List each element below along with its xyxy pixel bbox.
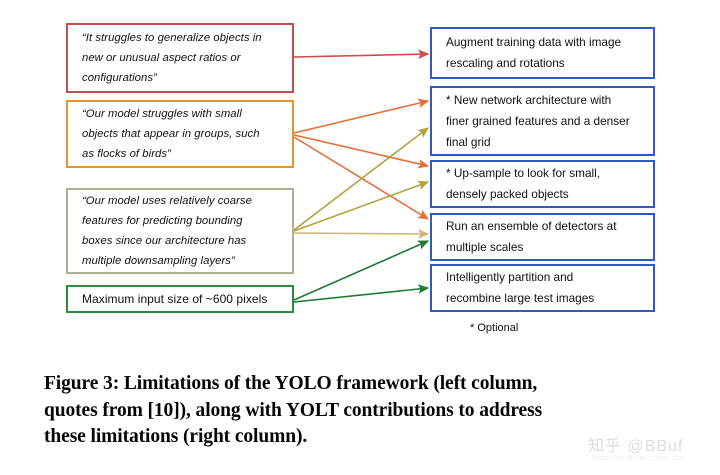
arrow-maxinput-to-partition: [294, 288, 428, 302]
arrow-coarse-to-upsample: [294, 182, 428, 231]
contribution-line: multiple scales: [446, 237, 645, 258]
watermark-url: https://zhuanlan.zhihu.com: [592, 455, 686, 462]
figure-diagram: “It struggles to generalize objects in n…: [0, 0, 720, 355]
contribution-line: densely packed objects: [446, 184, 645, 205]
contribution-line: * New network architecture with: [446, 90, 645, 111]
arrow-small-objects-to-architecture: [294, 101, 428, 133]
contribution-box-new-network-architecture: * New network architecture with finer gr…: [430, 86, 655, 156]
contribution-box-augment-training-data: Augment training data with image rescali…: [430, 27, 655, 79]
contribution-line: * Up-sample to look for small,: [446, 163, 645, 184]
quote-line: as flocks of birds”: [82, 144, 282, 164]
arrow-maxinput-to-ensemble: [294, 241, 428, 300]
arrow-coarse-to-ensemble: [294, 233, 428, 234]
arrow-small-objects-to-upsample: [294, 135, 428, 166]
contribution-line: Run an ensemble of detectors at: [446, 216, 645, 237]
quote-line: “It struggles to generalize objects in: [82, 28, 282, 48]
max-input-size-label: Maximum input size of ~600 pixels: [82, 289, 282, 309]
caption-line: Figure 3: Limitations of the YOLO framew…: [44, 371, 684, 398]
contribution-line: recombine large test images: [446, 288, 645, 309]
quote-line: features for predicting bounding: [82, 211, 282, 231]
quote-line: boxes since our architecture has: [82, 231, 282, 251]
contribution-box-partition-recombine: Intelligently partition and recombine la…: [430, 264, 655, 312]
quote-line: configurations”: [82, 68, 282, 88]
quote-box-coarse-features: “Our model uses relatively coarse featur…: [66, 188, 294, 274]
contribution-line: rescaling and rotations: [446, 53, 645, 74]
quote-line: multiple downsampling layers”: [82, 251, 282, 271]
quote-box-generalize: “It struggles to generalize objects in n…: [66, 23, 294, 93]
max-input-size-box: Maximum input size of ~600 pixels: [66, 285, 294, 313]
contribution-line: Augment training data with image: [446, 32, 645, 53]
watermark-text: 知乎 @BBuf: [588, 432, 683, 456]
quote-line: “Our model uses relatively coarse: [82, 191, 282, 211]
quote-box-small-objects: “Our model struggles with small objects …: [66, 100, 294, 168]
quote-line: new or unusual aspect ratios or: [82, 48, 282, 68]
arrow-coarse-to-architecture: [294, 128, 428, 230]
contribution-line: Intelligently partition and: [446, 267, 645, 288]
figure-page: “It struggles to generalize objects in n…: [0, 0, 720, 475]
arrow-small-objects-to-ensemble: [294, 137, 428, 219]
contribution-line: finer grained features and a denser: [446, 111, 645, 132]
quote-line: “Our model struggles with small: [82, 104, 282, 124]
contribution-box-up-sample: * Up-sample to look for small, densely p…: [430, 160, 655, 208]
contribution-line: final grid: [446, 132, 645, 153]
optional-footnote: * Optional: [470, 322, 518, 334]
arrow-generalize-to-augment: [294, 54, 428, 57]
contribution-box-ensemble-detectors: Run an ensemble of detectors at multiple…: [430, 213, 655, 261]
caption-line: quotes from [10]), along with YOLT contr…: [44, 398, 684, 425]
quote-line: objects that appear in groups, such: [82, 124, 282, 144]
